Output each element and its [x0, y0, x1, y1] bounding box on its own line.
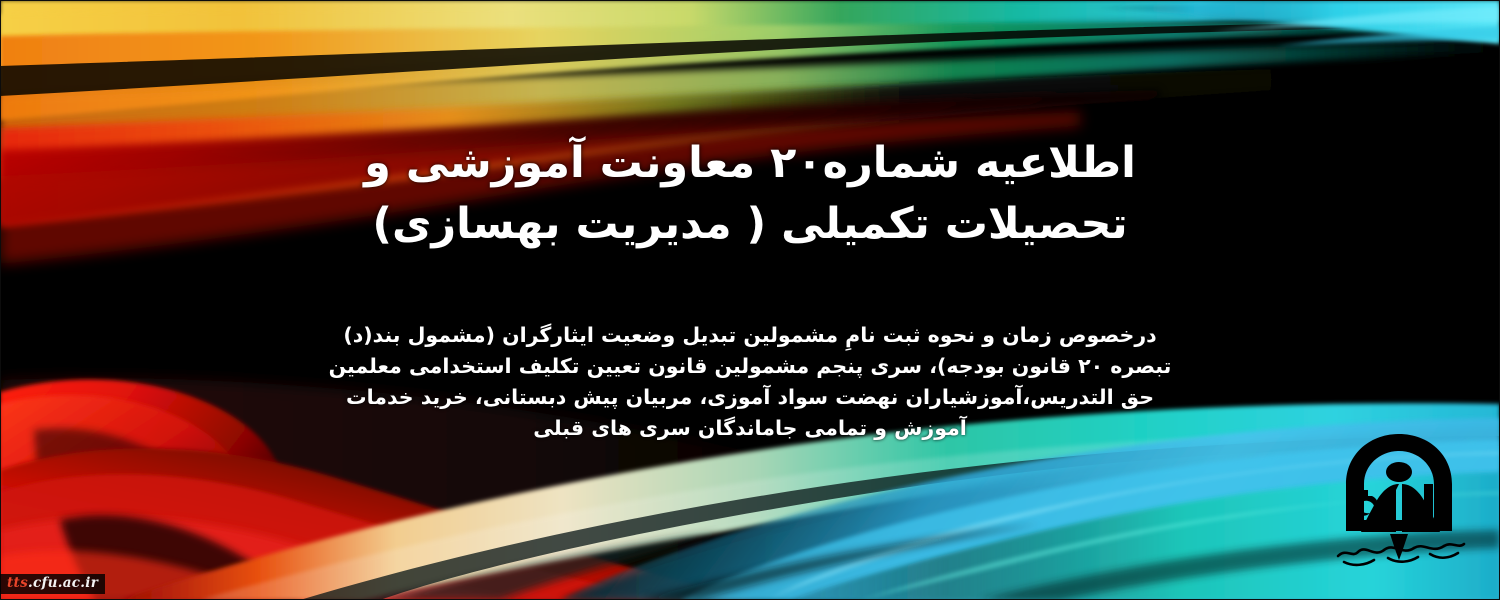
headline-line-1: اطلاعیه شماره۲۰ معاونت آموزشی و: [205, 133, 1295, 194]
site-watermark: tts.cfu.ac.ir: [0, 574, 105, 594]
watermark-prefix: tts: [7, 575, 28, 591]
watermark-suffix: .cfu.ac.ir: [28, 575, 98, 591]
headline-line-2: تحصیلات تکمیلی ( مدیریت بهسازی): [205, 194, 1295, 255]
announcement-content: اطلاعیه شماره۲۰ معاونت آموزشی و تحصیلات …: [0, 0, 1500, 600]
logo-emblem: [1346, 434, 1452, 560]
description-line-2: تبصره ۲۰ قانون بودجه)، سری پنجم مشمولین …: [195, 351, 1305, 382]
description-line-1: درخصوص زمان و نحوه ثبت نامِ مشمولین تبدی…: [195, 320, 1305, 351]
announcement-description: درخصوص زمان و نحوه ثبت نامِ مشمولین تبدی…: [195, 320, 1305, 445]
farhangian-university-logo: [1324, 424, 1474, 574]
page-title: اطلاعیه شماره۲۰ معاونت آموزشی و تحصیلات …: [205, 133, 1295, 255]
announcement-banner: اطلاعیه شماره۲۰ معاونت آموزشی و تحصیلات …: [0, 0, 1500, 600]
description-line-4: آموزش و تمامی جاماندگان سری های قبلی: [195, 413, 1305, 444]
description-line-3: حق التدریس،آموزشیاران نهضت سواد آموزی، م…: [195, 382, 1305, 413]
